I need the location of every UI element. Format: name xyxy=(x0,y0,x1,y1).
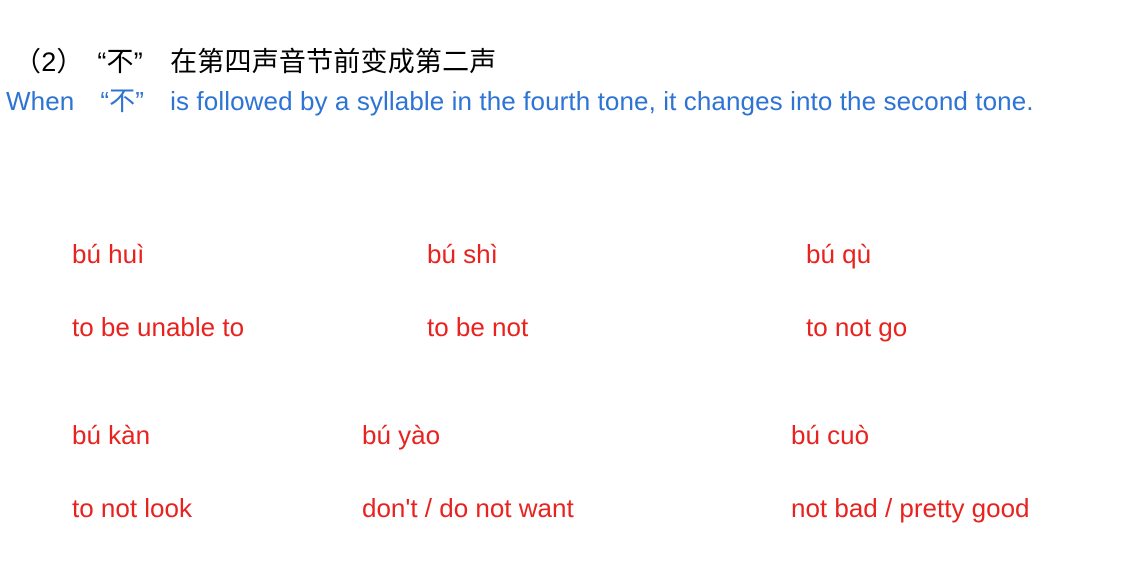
example-pinyin: bú cuò xyxy=(791,417,1030,454)
example-gloss: not bad / pretty good xyxy=(791,490,1030,527)
rule-heading: （2） “不” 在第四声音节前变成第二声 xyxy=(14,44,497,80)
example-pinyin: bú yào xyxy=(362,417,574,454)
example-gloss: to not look xyxy=(72,490,192,527)
example-pinyin: bú qù xyxy=(806,236,907,273)
example-gloss: to be not xyxy=(427,309,528,346)
example-entry: bú kàn to not look xyxy=(72,381,192,563)
example-entry: bú shì to be not xyxy=(427,200,528,382)
example-pinyin: bú huì xyxy=(72,236,244,273)
example-gloss: don't / do not want xyxy=(362,490,574,527)
example-entry: bú qù to not go xyxy=(806,200,907,382)
example-pinyin: bú shì xyxy=(427,236,528,273)
example-pinyin: bú kàn xyxy=(72,417,192,454)
example-entry: bú huì to be unable to xyxy=(72,200,244,382)
example-gloss: to be unable to xyxy=(72,309,244,346)
example-entry: bú cuò not bad / pretty good xyxy=(791,381,1030,563)
rule-translation: When “不” is followed by a syllable in th… xyxy=(6,84,1034,118)
slide-canvas: （2） “不” 在第四声音节前变成第二声 When “不” is followe… xyxy=(0,0,1143,586)
example-gloss: to not go xyxy=(806,309,907,346)
example-entry: bú yào don't / do not want xyxy=(362,381,574,563)
